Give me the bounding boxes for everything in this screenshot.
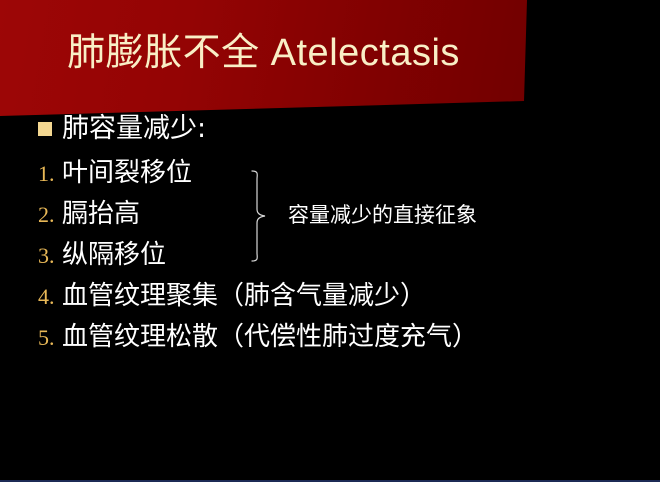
list-item: 1. 叶间裂移位 — [38, 158, 192, 188]
bullet-item-label: 肺容量减少: — [62, 114, 206, 144]
list-item-text: 叶间裂移位 — [62, 158, 192, 188]
list-item: 5. 血管纹理松散（代偿性肺过度充气） — [38, 322, 478, 352]
list-item-text: 血管纹理松散（代偿性肺过度充气） — [62, 322, 478, 352]
list-item-number: 3. — [38, 242, 62, 270]
list-item: 3. 纵隔移位 — [38, 240, 166, 270]
square-bullet-icon — [38, 122, 52, 136]
list-item-text: 纵隔移位 — [62, 240, 166, 270]
list-item-number: 1. — [38, 160, 62, 188]
list-item: 2. 膈抬高 — [38, 199, 140, 229]
list-item-number: 5. — [38, 324, 62, 352]
brace-annotation-text: 容量减少的直接征象 — [288, 202, 477, 228]
slide-title: 肺膨胀不全 Atelectasis — [0, 29, 527, 77]
right-curly-brace-icon — [248, 170, 272, 262]
slide-body: 肺容量减少: 1. 叶间裂移位 2. 膈抬高 3. 纵隔移位 4. 血管纹理聚集… — [0, 112, 660, 452]
list-item-text: 血管纹理聚集（肺含气量减少） — [62, 281, 426, 311]
presentation-slide: 肺膨胀不全 Atelectasis 肺容量减少: 1. 叶间裂移位 2. 膈抬高… — [0, 0, 660, 482]
list-item-number: 4. — [38, 283, 62, 311]
bullet-item-lung-volume-reduction: 肺容量减少: — [38, 112, 206, 146]
list-item-text: 膈抬高 — [62, 199, 140, 229]
list-item-number: 2. — [38, 201, 62, 229]
list-item: 4. 血管纹理聚集（肺含气量减少） — [38, 281, 426, 311]
